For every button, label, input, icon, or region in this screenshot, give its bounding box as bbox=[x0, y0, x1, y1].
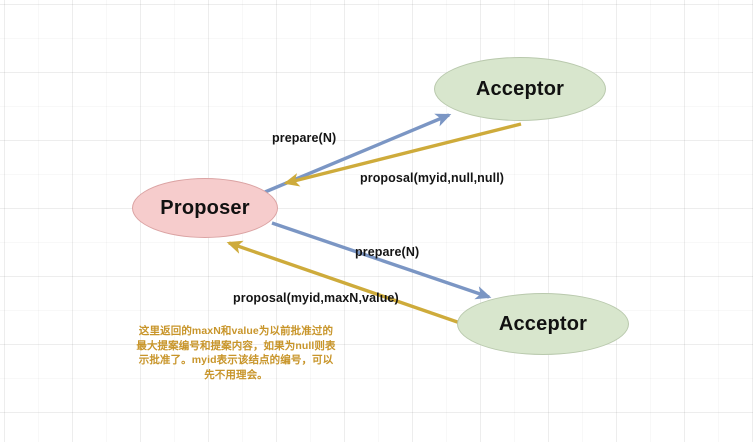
edge-label-prepare-bottom: prepare(N) bbox=[355, 245, 419, 259]
node-proposer-label: Proposer bbox=[160, 197, 249, 220]
node-proposer[interactable]: Proposer bbox=[132, 178, 278, 238]
node-acceptor-bottom[interactable]: Acceptor bbox=[457, 293, 629, 355]
edge-proposal-bottom-line bbox=[229, 243, 466, 325]
annotation-note-line-3: 示批准了。myid表示该结点的编号，可以 bbox=[112, 353, 360, 368]
diagram-canvas: Acceptor Proposer Acceptor prepare(N) pr… bbox=[0, 0, 753, 442]
edge-label-proposal-top: proposal(myid,null,null) bbox=[360, 171, 504, 185]
edge-label-prepare-top: prepare(N) bbox=[272, 131, 336, 145]
edge-prepare-bottom-line bbox=[272, 223, 489, 297]
annotation-note: 这里返回的maxN和value为以前批准过的 最大提案编号和提案内容，如果为nu… bbox=[112, 324, 360, 382]
node-acceptor-top-label: Acceptor bbox=[476, 78, 564, 101]
edge-label-proposal-bottom: proposal(myid,maxN,value) bbox=[233, 291, 399, 305]
node-acceptor-top[interactable]: Acceptor bbox=[434, 57, 606, 121]
annotation-note-line-4: 先不用理会。 bbox=[112, 368, 360, 383]
annotation-note-line-2: 最大提案编号和提案内容，如果为null则表 bbox=[112, 339, 360, 354]
annotation-note-line-1: 这里返回的maxN和value为以前批准过的 bbox=[112, 324, 360, 339]
node-acceptor-bottom-label: Acceptor bbox=[499, 313, 587, 336]
